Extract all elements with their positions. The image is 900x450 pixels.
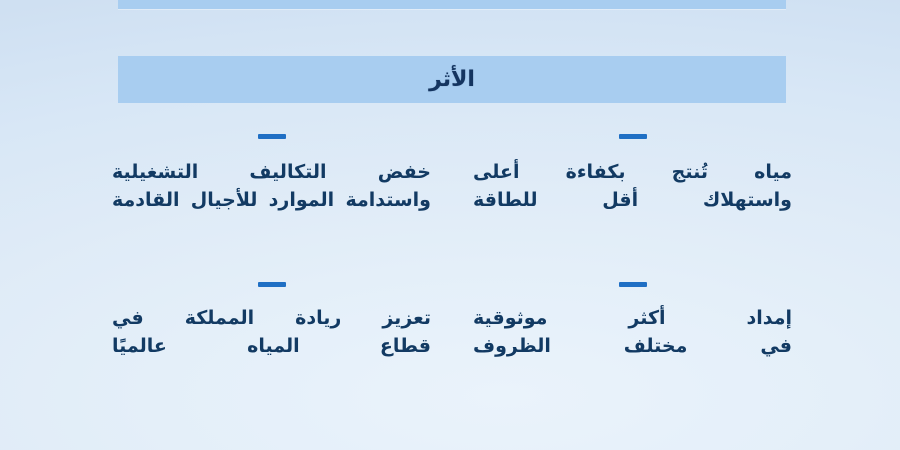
slide-canvas: الأثر مياه تُنتج بكفاءة أعلى واستهلاك أق… xyxy=(0,0,900,450)
dash-marker-icon xyxy=(258,134,286,139)
impact-text-leadership: تعزيز ريادة المملكة في قطاع المياه عالمي… xyxy=(112,305,431,360)
dash-marker-icon xyxy=(619,282,647,287)
impact-card-efficiency: مياه تُنتج بكفاءة أعلى واستهلاك أقل للطا… xyxy=(473,128,792,254)
dash-marker-icon xyxy=(258,282,286,287)
page-title: الأثر xyxy=(429,69,475,91)
impact-card-operating-costs: خفض التكاليف التشغيلية واستدامة الموارد … xyxy=(112,128,431,254)
impact-card-leadership: تعزيز ريادة المملكة في قطاع المياه عالمي… xyxy=(112,272,431,398)
impact-text-reliability: إمداد أكثر موثوقية في مختلف الظروف xyxy=(473,305,792,360)
impact-text-efficiency: مياه تُنتج بكفاءة أعلى واستهلاك أقل للطا… xyxy=(473,159,792,214)
section-title-band: الأثر xyxy=(118,56,786,103)
top-decorative-band xyxy=(118,0,786,9)
impact-card-reliability: إمداد أكثر موثوقية في مختلف الظروف xyxy=(473,272,792,398)
impact-text-operating-costs: خفض التكاليف التشغيلية واستدامة الموارد … xyxy=(112,159,431,214)
impact-grid: مياه تُنتج بكفاءة أعلى واستهلاك أقل للطا… xyxy=(112,128,792,398)
dash-marker-icon xyxy=(619,134,647,139)
